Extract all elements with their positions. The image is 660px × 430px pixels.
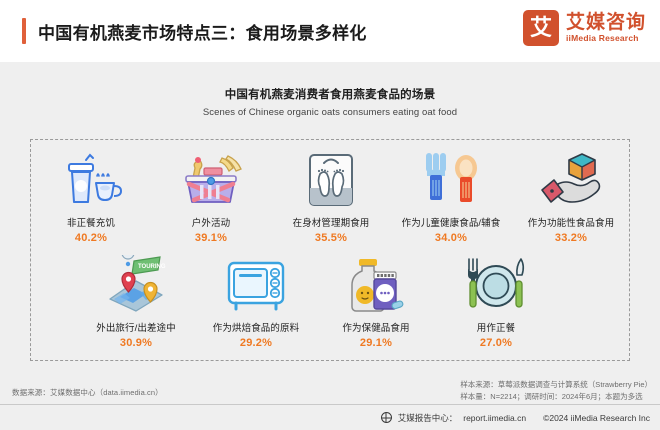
scene-item-travel[interactable]: TOURING 外出旅行/出差途中 30.9%: [76, 253, 196, 349]
supplement-bottles-icon: [340, 253, 412, 315]
scene-item-baking-ingredient[interactable]: 作为烘焙食品的原料 29.2%: [196, 253, 316, 349]
scene-value: 39.1%: [195, 232, 227, 244]
scene-label: 作为保健品食用: [342, 320, 409, 334]
scene-label: 作为烘焙食品的原料: [213, 320, 299, 334]
title-accent-bar: [22, 18, 26, 44]
scene-row-2: TOURING 外出旅行/出差途中 30.9%: [31, 253, 631, 349]
scene-value: 33.2%: [555, 232, 587, 244]
fork-and-spoon-icon: [415, 148, 487, 210]
weight-scale-icon: [295, 148, 367, 210]
oven-icon: [220, 253, 292, 315]
footer-bar-right-group: 艾媒报告中心： report.iimedia.cn ©2024 iiMedia …: [381, 412, 650, 424]
scene-value: 30.9%: [120, 337, 152, 349]
scene-label: 在身材管理期食用: [293, 215, 370, 229]
copyright-text: ©2024 iiMedia Research Inc: [543, 413, 650, 423]
footer-data-source: 数据来源：艾媒数据中心（data.iimedia.cn）: [12, 387, 163, 398]
scene-label: 外出旅行/出差途中: [96, 320, 176, 334]
drink-cup-and-coffee-icon: [55, 148, 127, 210]
logo-name-en: iiMedia Research: [566, 33, 646, 43]
page-header: 中国有机燕麦市场特点三：食用场景多样化 艾 艾媒咨询 iiMedia Resea…: [0, 0, 660, 62]
svg-text:TOURING: TOURING: [138, 264, 166, 270]
globe-icon: [381, 412, 392, 423]
scene-label: 户外活动: [192, 215, 230, 229]
scene-value: 29.2%: [240, 337, 272, 349]
scene-label: 作为功能性食品食用: [528, 215, 614, 229]
footer-sample-note: 样本量：N=2214；调研时间：2024年6月；本题为多选: [460, 391, 652, 403]
page-title: 中国有机燕麦市场特点三：食用场景多样化: [38, 19, 367, 44]
scene-value: 34.0%: [435, 232, 467, 244]
scene-value: 40.2%: [75, 232, 107, 244]
scenes-panel: 非正餐充饥 40.2%: [30, 139, 630, 361]
picnic-basket-icon: [175, 148, 247, 210]
scene-label: 非正餐充饥: [67, 215, 115, 229]
scene-item-children-food[interactable]: 作为儿童健康食品/辅食 34.0%: [391, 148, 511, 244]
scene-value: 29.1%: [360, 337, 392, 349]
report-center-url[interactable]: report.iimedia.cn: [463, 413, 526, 423]
logo-name-cn: 艾媒咨询: [566, 13, 646, 33]
report-center-label: 艾媒报告中心：: [398, 412, 458, 424]
chart-title-en: Scenes of Chinese organic oats consumers…: [0, 107, 660, 118]
logo-mark-icon: 艾: [523, 10, 559, 46]
scene-value: 35.5%: [315, 232, 347, 244]
footer-bar: 艾媒报告中心： report.iimedia.cn ©2024 iiMedia …: [0, 405, 660, 430]
scene-item-body-management[interactable]: 在身材管理期食用 35.5%: [271, 148, 391, 244]
scene-item-main-meal[interactable]: 用作正餐 27.0%: [436, 253, 556, 349]
scene-item-functional-food[interactable]: 作为功能性食品食用 33.2%: [511, 148, 631, 244]
chart-subtitle-block: 中国有机燕麦消费者食用燕麦食品的场景 Scenes of Chinese org…: [0, 86, 660, 118]
infographic-page: 中国有机燕麦市场特点三：食用场景多样化 艾 艾媒咨询 iiMedia Resea…: [0, 0, 660, 430]
scene-item-health-supplement[interactable]: 作为保健品食用 29.1%: [316, 253, 436, 349]
footer-sample-source: 样本来源：草莓派数据调查与计算系统（Strawberry Pie）: [460, 379, 652, 391]
scene-item-outdoor-activity[interactable]: 户外活动 39.1%: [151, 148, 271, 244]
footer-sample-info: 样本来源：草莓派数据调查与计算系统（Strawberry Pie） 样本量：N=…: [460, 379, 652, 404]
travel-map-pins-icon: TOURING: [100, 253, 172, 315]
plate-fork-knife-icon: [460, 253, 532, 315]
scene-value: 27.0%: [480, 337, 512, 349]
scene-label: 用作正餐: [477, 320, 515, 334]
scene-row-1: 非正餐充饥 40.2%: [31, 148, 631, 244]
hand-holding-cube-icon: [535, 148, 607, 210]
brand-logo: 艾 艾媒咨询 iiMedia Research: [523, 10, 646, 46]
chart-title-cn: 中国有机燕麦消费者食用燕麦食品的场景: [0, 86, 660, 102]
scene-label: 作为儿童健康食品/辅食: [402, 215, 501, 229]
scene-item-non-meal-snack[interactable]: 非正餐充饥 40.2%: [31, 148, 151, 244]
